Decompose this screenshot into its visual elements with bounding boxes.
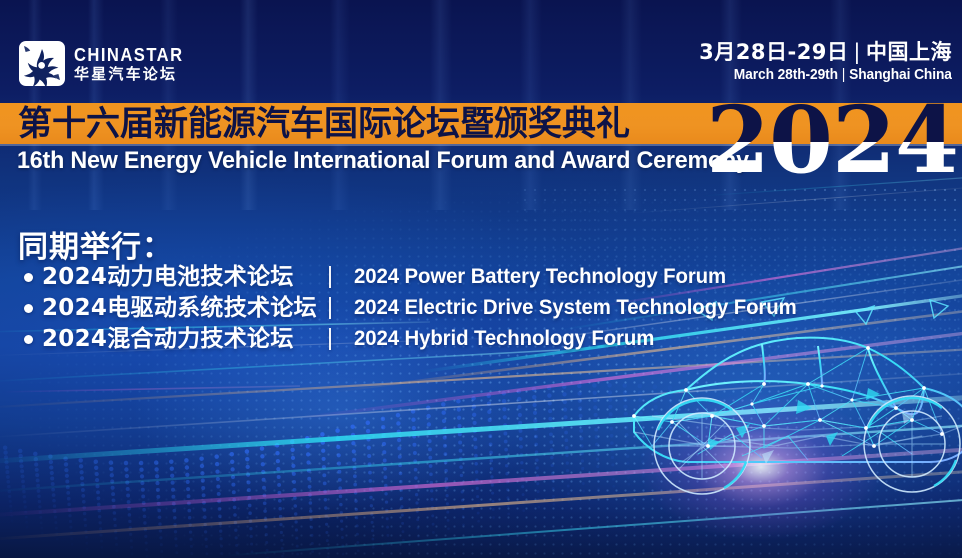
event-year: 2024 2024 bbox=[706, 96, 962, 184]
forum-name-cn: 2024电驱动系统技术论坛 bbox=[42, 295, 317, 321]
event-date-location: 3月28日-29日|中国上海 March 28th-29th|Shanghai … bbox=[699, 40, 952, 83]
brand-logo[interactable]: CHINASTAR 华星汽车论坛 bbox=[18, 40, 193, 87]
bullet-icon bbox=[24, 304, 33, 313]
forum-name-cn: 2024动力电池技术论坛 bbox=[42, 264, 294, 290]
background-light-burst bbox=[636, 392, 886, 542]
event-location-cn: 中国上海 bbox=[866, 40, 952, 64]
bullet-icon bbox=[24, 273, 33, 282]
list-item: 2024混合动力技术论坛 2024 Hybrid Technology Foru… bbox=[24, 324, 810, 354]
list-item: 2024动力电池技术论坛 2024 Power Battery Technolo… bbox=[24, 262, 810, 292]
forum-separator bbox=[329, 297, 331, 319]
event-date-location-en: March 28th-29th|Shanghai China bbox=[712, 67, 952, 83]
concurrent-forum-list: 2024动力电池技术论坛 2024 Power Battery Technolo… bbox=[24, 262, 810, 355]
date-separator-en: | bbox=[838, 67, 849, 83]
concurrent-heading: 同期举行： bbox=[18, 222, 173, 266]
event-date-location-cn: 3月28日-29日|中国上海 bbox=[699, 40, 952, 64]
forum-separator bbox=[329, 266, 331, 288]
page-title-en: 16th New Energy Vehicle International Fo… bbox=[17, 147, 749, 175]
brand-name-en: CHINASTAR bbox=[74, 46, 184, 64]
forum-name-cn: 2024混合动力技术论坛 bbox=[42, 326, 294, 352]
date-separator-cn: | bbox=[848, 40, 866, 64]
forum-separator bbox=[329, 328, 331, 350]
brand-logo-text: CHINASTAR 华星汽车论坛 bbox=[74, 46, 193, 82]
event-date-cn: 3月28日-29日 bbox=[699, 40, 848, 64]
event-banner: CHINASTAR 华星汽车论坛 3月28日-29日|中国上海 March 28… bbox=[0, 0, 962, 558]
brand-name-cn: 华星汽车论坛 bbox=[74, 67, 193, 82]
event-location-en: Shanghai China bbox=[849, 67, 952, 83]
background-wave-graphic bbox=[0, 330, 710, 558]
forum-name-en: 2024 Power Battery Technology Forum bbox=[354, 262, 726, 292]
chinastar-star-logo-icon bbox=[18, 40, 66, 87]
event-date-en: March 28th-29th bbox=[734, 67, 838, 83]
forum-name-en: 2024 Hybrid Technology Forum bbox=[354, 324, 654, 354]
list-item: 2024电驱动系统技术论坛 2024 Electric Drive System… bbox=[24, 293, 810, 323]
page-title-cn: 第十六届新能源汽车国际论坛暨颁奖典礼 bbox=[18, 104, 630, 144]
bullet-icon bbox=[24, 335, 33, 344]
forum-name-en: 2024 Electric Drive System Technology Fo… bbox=[354, 293, 797, 323]
